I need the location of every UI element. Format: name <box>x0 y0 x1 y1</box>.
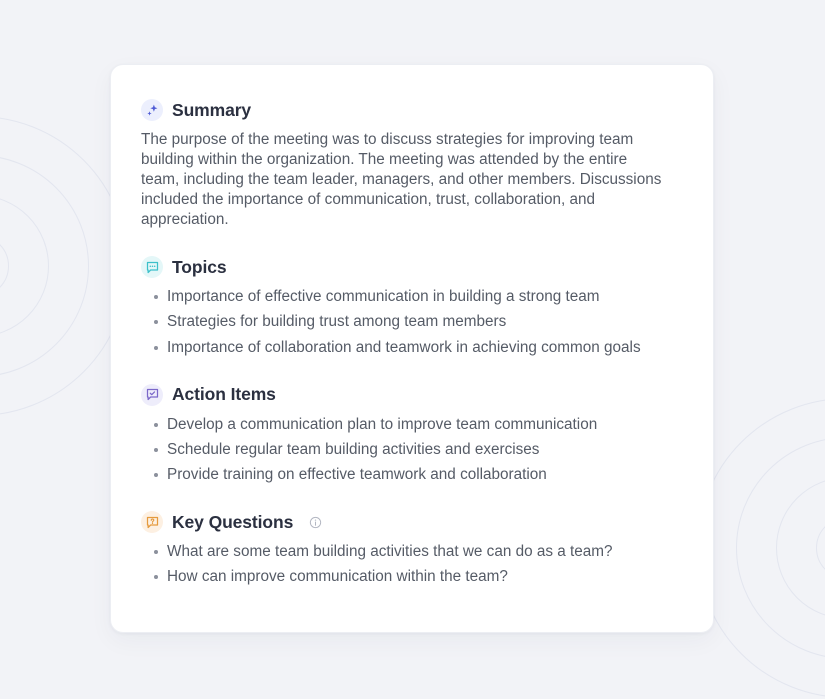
decor-ring-right-4 <box>816 517 825 579</box>
section-action-items: Action Items Develop a communication pla… <box>141 384 683 486</box>
decor-ring-left-1 <box>0 116 128 416</box>
section-title: Action Items <box>172 384 276 405</box>
list-item: Importance of effective communication in… <box>141 287 671 307</box>
section-topics: Topics Importance of effective communica… <box>141 256 683 358</box>
list-item: Provide training on effective teamwork a… <box>141 465 671 485</box>
sparkle-icon <box>141 99 163 121</box>
section-summary: Summary The purpose of the meeting was t… <box>141 99 683 230</box>
list-item: What are some team building activities t… <box>141 542 671 562</box>
section-topics-header: Topics <box>141 256 683 278</box>
section-action-items-header: Action Items <box>141 384 683 406</box>
info-circle-icon[interactable] <box>309 516 322 529</box>
chat-bubble-check-icon <box>141 384 163 406</box>
decor-ring-right-3 <box>776 477 825 619</box>
section-title: Key Questions <box>172 512 293 533</box>
section-key-questions-header: Key Questions <box>141 511 683 533</box>
decor-ring-left-2 <box>0 155 89 377</box>
section-title: Summary <box>172 100 251 121</box>
summary-paragraph: The purpose of the meeting was to discus… <box>141 130 666 230</box>
section-key-questions: Key Questions What are some team buildin… <box>141 511 683 587</box>
section-title: Topics <box>172 257 227 278</box>
decor-ring-right-2 <box>736 437 825 659</box>
list-item: Importance of collaboration and teamwork… <box>141 338 671 358</box>
chat-bubble-question-icon <box>141 511 163 533</box>
list-item: Schedule regular team building activitie… <box>141 440 671 460</box>
list-item: Strategies for building trust among team… <box>141 312 671 332</box>
list-item: Develop a communication plan to improve … <box>141 415 671 435</box>
chat-bubble-dots-icon <box>141 256 163 278</box>
decor-ring-left-3 <box>0 195 49 337</box>
decor-ring-right-1 <box>697 398 825 698</box>
meeting-notes-card: Summary The purpose of the meeting was t… <box>110 64 714 633</box>
section-summary-header: Summary <box>141 99 683 121</box>
key-questions-list: What are some team building activities t… <box>141 542 683 587</box>
topics-list: Importance of effective communication in… <box>141 287 683 358</box>
list-item: How can improve communication within the… <box>141 567 671 587</box>
decor-ring-left-4 <box>0 235 9 297</box>
action-items-list: Develop a communication plan to improve … <box>141 415 683 486</box>
